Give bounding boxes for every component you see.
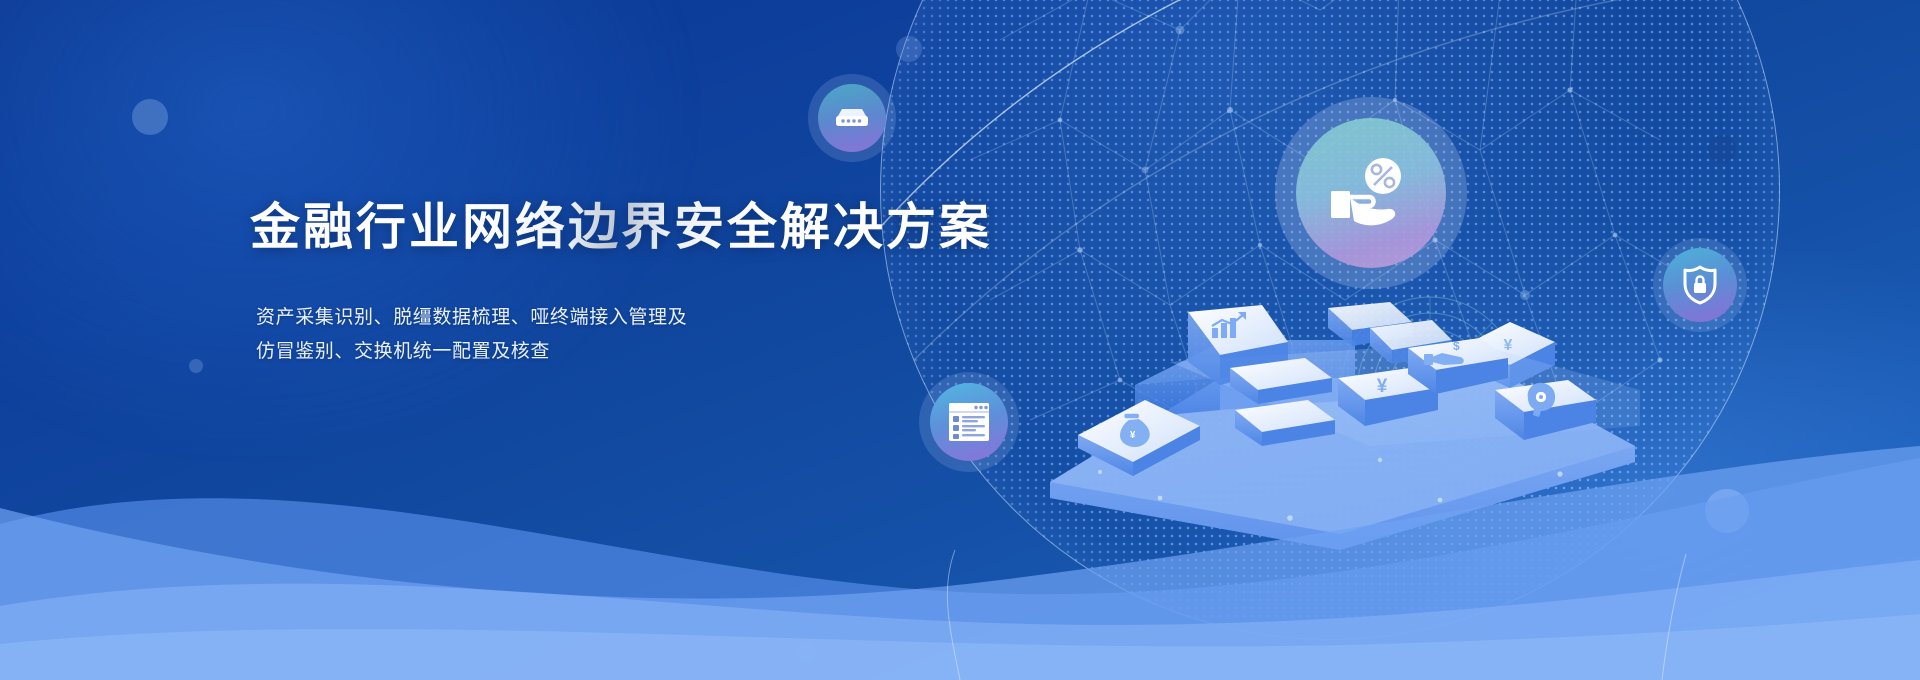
financial-security-hero-banner: ¥ ¥: [0, 0, 1920, 680]
subtitle-line-1: 资产采集识别、脱缰数据梳理、哑终端接入管理及: [256, 301, 990, 335]
svg-text:¥: ¥: [1504, 337, 1513, 354]
hand-percent-icon-badge: [1296, 118, 1446, 268]
deco-bubble-top-right: [1708, 135, 1736, 163]
hand-percent-icon: [1325, 157, 1417, 229]
router-icon: [834, 105, 870, 131]
router-icon-badge: [818, 84, 886, 152]
shield-lock-icon: [1682, 265, 1718, 305]
light-streaks: [0, 520, 1920, 680]
document-list-icon: [947, 401, 991, 443]
deco-bubble-mid-left: [189, 359, 203, 373]
subtitle-line-2: 仿冒鉴别、交换机统一配置及核查: [256, 335, 990, 369]
svg-text:$: $: [1453, 339, 1460, 353]
deco-bubble-top-mid: [896, 36, 922, 62]
deco-bubble-left: [132, 99, 168, 135]
page-subtitle: 资产采集识别、脱缰数据梳理、哑终端接入管理及 仿冒鉴别、交换机统一配置及核查: [256, 301, 990, 369]
hero-copy: 金融行业网络边界安全解决方案 资产采集识别、脱缰数据梳理、哑终端接入管理及 仿冒…: [250, 198, 990, 369]
svg-text:¥: ¥: [1377, 376, 1388, 397]
shield-lock-icon-badge: [1663, 248, 1737, 322]
page-title: 金融行业网络边界安全解决方案: [250, 198, 990, 257]
